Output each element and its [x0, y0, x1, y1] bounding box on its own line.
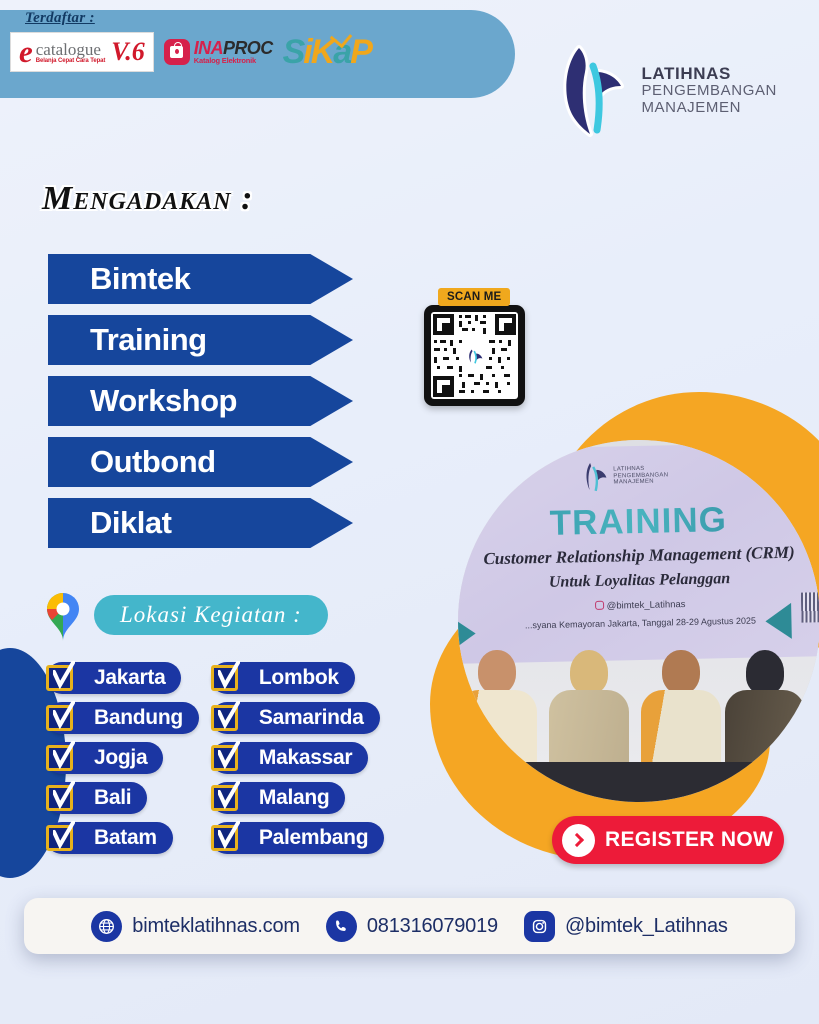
inaproc-tagline: Katalog Elektronik	[194, 57, 273, 65]
event-backdrop-banner: LATIHNAS PENGEMBANGAN MANAJEMEN TRAINING…	[458, 442, 819, 664]
location-pill-label: Lokasi Kegiatan :	[94, 595, 328, 635]
inaproc-logo: INAPROC Katalog Elektronik	[164, 39, 273, 65]
checkmark-icon	[218, 701, 240, 731]
ecatalogue-logo: e catalogue Belanja Cepat Cara Tepat V.6	[10, 32, 154, 72]
checkmark-icon	[218, 781, 240, 811]
registered-label: Terdaftar :	[25, 10, 95, 27]
checkmark-icon	[218, 661, 240, 691]
list-item[interactable]: Lombok	[211, 662, 384, 694]
event-table	[458, 762, 819, 802]
sikap-logo: SiKaP	[283, 35, 371, 69]
sikap-letter-p: P	[350, 33, 371, 71]
map-pin-icon	[42, 588, 84, 642]
service-label: Workshop	[48, 383, 237, 419]
backdrop-subtitle-2: Untuk Loyalitas Pelanggan	[458, 568, 819, 594]
qr-code-block[interactable]: SCAN ME	[424, 296, 525, 406]
contact-phone[interactable]: 081316079019	[326, 911, 498, 942]
service-label: Bimtek	[48, 261, 190, 297]
ecatalogue-e-icon: e	[19, 38, 33, 66]
backdrop-feather-icon	[582, 461, 609, 494]
service-label: Diklat	[48, 505, 171, 541]
ecatalogue-tagline: Belanja Cepat Cara Tepat	[36, 58, 106, 64]
partner-logo-row: e catalogue Belanja Cepat Cara Tepat V.6…	[10, 32, 371, 72]
service-label: Training	[48, 322, 207, 358]
checkmark-icon	[53, 701, 75, 731]
phone-icon	[326, 911, 357, 942]
backdrop-title: TRAINING	[458, 498, 819, 546]
arrow-right-icon	[562, 824, 595, 857]
list-item[interactable]: Jakarta	[46, 662, 199, 694]
instagram-text: @bimtek_Latihnas	[565, 915, 728, 938]
contact-website[interactable]: bimteklatihnas.com	[91, 911, 300, 942]
city-column-left: Jakarta Bandung Jogja Bali Batam	[46, 662, 199, 854]
list-item[interactable]: Malang	[211, 782, 384, 814]
ecatalogue-name: catalogue	[36, 41, 106, 58]
checkmark-icon	[53, 741, 75, 771]
city-column-right: Lombok Samarinda Makassar Malang Palemba…	[211, 662, 384, 854]
inaproc-name-second: PROC	[223, 38, 273, 58]
globe-icon	[91, 911, 122, 942]
contact-instagram[interactable]: @bimtek_Latihnas	[524, 911, 728, 942]
event-attendees	[458, 632, 819, 802]
checkmark-icon	[53, 821, 75, 851]
list-item[interactable]: Palembang	[211, 822, 384, 854]
qr-embedded-logo-icon	[464, 345, 486, 367]
checkmark-icon	[218, 821, 240, 851]
location-city-lists: Jakarta Bandung Jogja Bali Batam Lombok	[46, 662, 384, 854]
service-arrow-diklat[interactable]: Diklat	[48, 498, 353, 548]
register-button-label: REGISTER NOW	[605, 828, 773, 852]
contact-footer: bimteklatihnas.com 081316079019 @bimtek_…	[24, 898, 795, 954]
ecatalogue-version: V.6	[111, 37, 145, 67]
latihnas-feather-icon	[557, 42, 633, 138]
service-arrow-training[interactable]: Training	[48, 315, 353, 365]
sikap-letter-s: S	[283, 33, 304, 71]
checkmark-icon	[218, 741, 240, 771]
inaproc-name-first: INA	[194, 38, 223, 58]
shopping-bag-icon	[164, 39, 190, 65]
services-list: Bimtek Training Workshop Outbond Diklat	[48, 254, 353, 559]
latihnas-logo: LATIHNAS PENGEMBANGAN MANAJEMEN	[557, 42, 777, 138]
backdrop-logo-line-3: MANAJEMEN	[613, 479, 668, 487]
service-arrow-workshop[interactable]: Workshop	[48, 376, 353, 426]
event-photo: LATIHNAS PENGEMBANGAN MANAJEMEN TRAINING…	[458, 440, 819, 802]
service-arrow-bimtek[interactable]: Bimtek	[48, 254, 353, 304]
list-item[interactable]: Bandung	[46, 702, 199, 734]
location-header: Lokasi Kegiatan :	[42, 588, 328, 642]
scan-me-label: SCAN ME	[438, 288, 510, 306]
qr-code-icon	[431, 312, 518, 399]
list-item[interactable]: Samarinda	[211, 702, 384, 734]
service-arrow-outbond[interactable]: Outbond	[48, 437, 353, 487]
instagram-icon	[595, 601, 604, 610]
brand-line-1: LATIHNAS	[641, 64, 777, 83]
brand-line-2: PENGEMBANGAN	[641, 83, 777, 100]
list-item[interactable]: Makassar	[211, 742, 384, 774]
checkmark-icon	[53, 661, 75, 691]
service-label: Outbond	[48, 444, 216, 480]
backdrop-logo: LATIHNAS PENGEMBANGAN MANAJEMEN	[582, 459, 669, 493]
checkmark-icon	[53, 781, 75, 811]
list-item[interactable]: Bali	[46, 782, 199, 814]
sikap-letter-i: i	[303, 33, 310, 71]
list-item[interactable]: Jogja	[46, 742, 199, 774]
qr-card[interactable]	[424, 305, 525, 406]
register-now-button[interactable]: REGISTER NOW	[552, 816, 784, 864]
website-text: bimteklatihnas.com	[132, 915, 300, 938]
instagram-icon	[524, 911, 555, 942]
phone-text: 081316079019	[367, 915, 498, 938]
list-item[interactable]: Batam	[46, 822, 199, 854]
backdrop-subtitle-1: Customer Relationship Management (CRM)	[458, 542, 819, 570]
brand-line-3: MANAJEMEN	[641, 100, 777, 117]
page-title: Mengadakan :	[42, 180, 253, 218]
